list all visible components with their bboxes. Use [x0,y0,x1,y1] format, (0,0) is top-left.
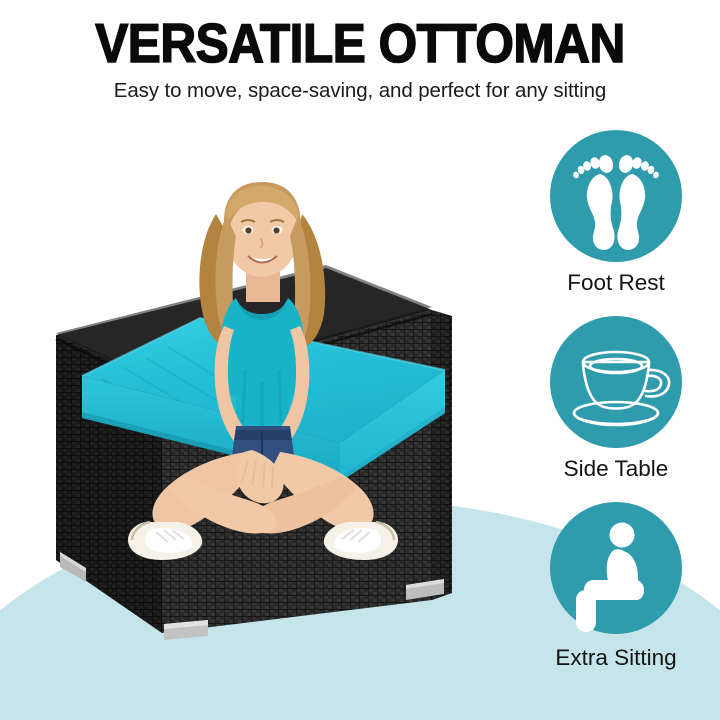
feature-item-extra-sitting: Extra Sitting [528,502,704,688]
page-title: VERSATILE OTTOMAN [36,14,684,72]
feature-label: Side Table [528,456,704,482]
feature-list: Foot Rest [528,130,704,688]
page-subtitle: Easy to move, space-saving, and perfect … [0,79,720,103]
sneaker-left [128,522,202,560]
product-image [40,130,520,690]
feature-label: Foot Rest [528,270,704,296]
wicker-right-face [432,310,452,600]
footprints-icon [550,130,682,262]
feature-item-foot-rest: Foot Rest [528,130,704,316]
sneaker-right [324,522,398,560]
feature-item-side-table: Side Table [528,316,704,502]
seated-person-icon [550,502,682,634]
ottoman-illustration [40,130,520,690]
product-infographic: VERSATILE OTTOMAN Easy to move, space-sa… [0,0,720,720]
teacup-icon [550,316,682,448]
feature-label: Extra Sitting [528,645,704,671]
header: VERSATILE OTTOMAN Easy to move, space-sa… [0,0,720,103]
